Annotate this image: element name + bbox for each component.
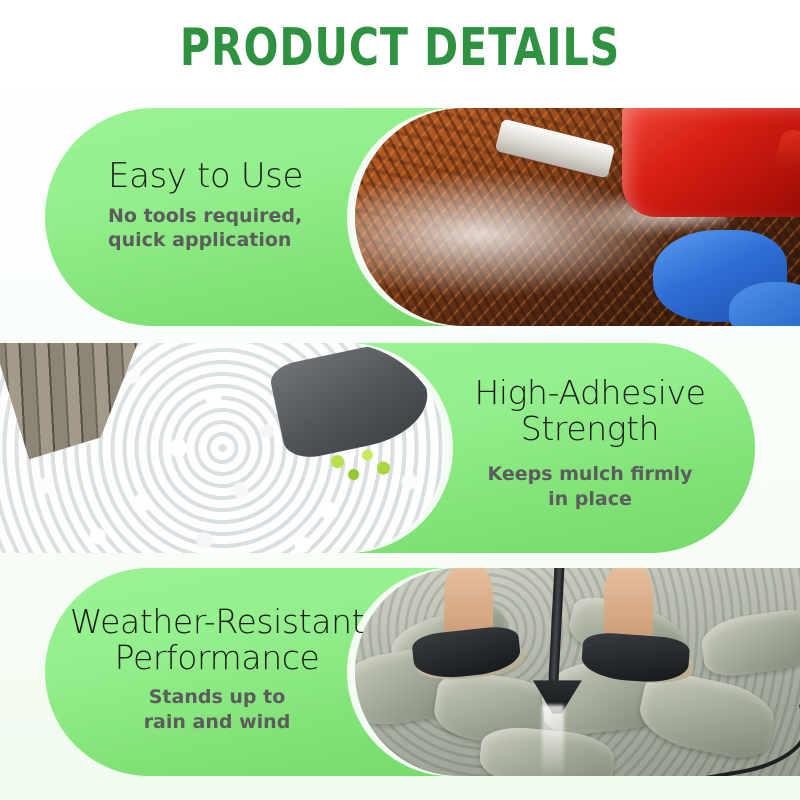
rock-feet-spray-wand-photo bbox=[355, 568, 800, 776]
feature-2-title-line-2: Strength bbox=[440, 411, 740, 447]
feature-3-title: Weather-Resistant Performance bbox=[62, 604, 372, 675]
feature-1-title: Easy to Use bbox=[108, 158, 408, 195]
feature-1-subtitle: No tools required, quick application bbox=[108, 204, 408, 253]
rock-decor bbox=[699, 606, 800, 680]
spray-bottle-body-decor bbox=[622, 108, 800, 217]
feature-2-subtitle-line-1: Keeps mulch firmly bbox=[440, 462, 740, 487]
feature-card-weather-resistant-performance: Weather-Resistant Performance Stands up … bbox=[0, 568, 800, 776]
spray-jet-decor bbox=[542, 705, 564, 776]
feature-2-title: High-Adhesive Strength bbox=[440, 375, 740, 446]
feature-card-high-adhesive-strength: High-Adhesive Strength Keeps mulch firml… bbox=[0, 343, 800, 553]
green-plant-decor bbox=[303, 440, 419, 495]
feature-1-subtitle-line-2: quick application bbox=[108, 228, 408, 253]
feature-3-subtitle: Stands up to rain and wind bbox=[62, 685, 372, 734]
feature-3-text-block: Weather-Resistant Performance Stands up … bbox=[62, 604, 372, 735]
white-pebble-gravel-photo bbox=[0, 343, 445, 553]
feature-2-subtitle: Keeps mulch firmly in place bbox=[440, 462, 740, 511]
wooden-deck-decor bbox=[0, 343, 199, 459]
feature-3-title-line-2: Performance bbox=[62, 640, 372, 676]
feature-2-title-line-1: High-Adhesive bbox=[440, 375, 740, 411]
feature-3-subtitle-line-2: rain and wind bbox=[62, 710, 372, 735]
page-title: PRODUCT DETAILS bbox=[48, 22, 752, 74]
feature-2-text-block: High-Adhesive Strength Keeps mulch firml… bbox=[440, 375, 740, 512]
feature-1-text-block: Easy to Use No tools required, quick app… bbox=[108, 158, 408, 253]
feature-3-subtitle-line-1: Stands up to bbox=[62, 685, 372, 710]
feature-card-easy-to-use: Easy to Use No tools required, quick app… bbox=[0, 108, 800, 326]
feature-2-subtitle-line-2: in place bbox=[440, 487, 740, 512]
mulch-spray-bottle-photo bbox=[355, 108, 800, 326]
feature-1-subtitle-line-1: No tools required, bbox=[108, 204, 408, 229]
feature-3-title-line-1: Weather-Resistant bbox=[62, 604, 372, 640]
product-details-infographic: PRODUCT DETAILS Easy to Use No tools req… bbox=[0, 0, 800, 800]
spray-bottle-grip-decor bbox=[773, 127, 800, 177]
